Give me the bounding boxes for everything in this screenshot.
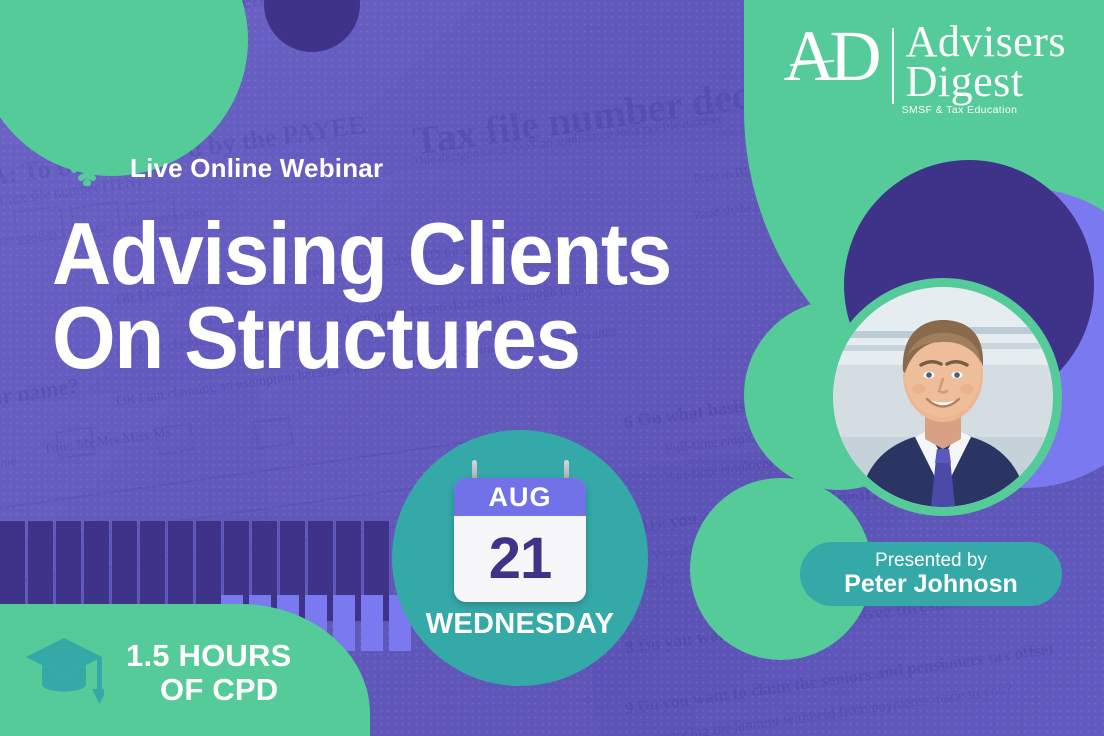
wifi-icon: [62, 146, 112, 191]
calendar-month: AUG: [489, 484, 552, 511]
page-title: Advising Clients On Structures: [52, 212, 671, 381]
logo-word-digest: Digest: [906, 62, 1066, 102]
calendar-weekday: WEDNESDAY: [392, 608, 648, 641]
date-badge: AUG 21 WEDNESDAY: [392, 430, 648, 686]
headline-line-1: Advising Clients: [52, 212, 671, 296]
calendar-icon: AUG 21: [454, 478, 586, 602]
presenter-intro: Presented by: [875, 550, 987, 571]
logo-divider: [892, 28, 894, 104]
cpd-label: 1.5 HOURS OF CPD: [126, 639, 291, 706]
cpd-badge: 1.5 HOURS OF CPD: [24, 632, 291, 713]
bar-light: [361, 595, 383, 651]
logo-wordmark: Advisers Digest: [906, 22, 1066, 103]
logo-word-advisers: Advisers: [906, 22, 1066, 62]
presenter-name: Peter Johnosn: [844, 571, 1018, 599]
calendar-day: 21: [454, 516, 586, 602]
eyebrow-row: Live Online Webinar: [62, 146, 383, 191]
logo-tagline: SMSF & Tax Education: [902, 104, 1018, 116]
eyebrow-label: Live Online Webinar: [130, 153, 383, 184]
calendar-header: AUG: [454, 478, 586, 516]
presenter-portrait: [824, 278, 1062, 516]
cpd-line-1: 1.5 HOURS: [126, 638, 291, 673]
presenter-badge: Presented by Peter Johnosn: [800, 542, 1062, 606]
graduation-cap-icon: [24, 632, 104, 713]
brand-logo[interactable]: AD Advisers Digest SMSF & Tax Education: [784, 22, 1066, 104]
webinar-promo-banner: Australian Government Australian Taxatio…: [0, 0, 1104, 736]
headline-line-2: On Structures: [52, 296, 671, 380]
cpd-line-2: OF CPD: [126, 672, 278, 707]
logo-monogram: AD: [784, 22, 876, 90]
